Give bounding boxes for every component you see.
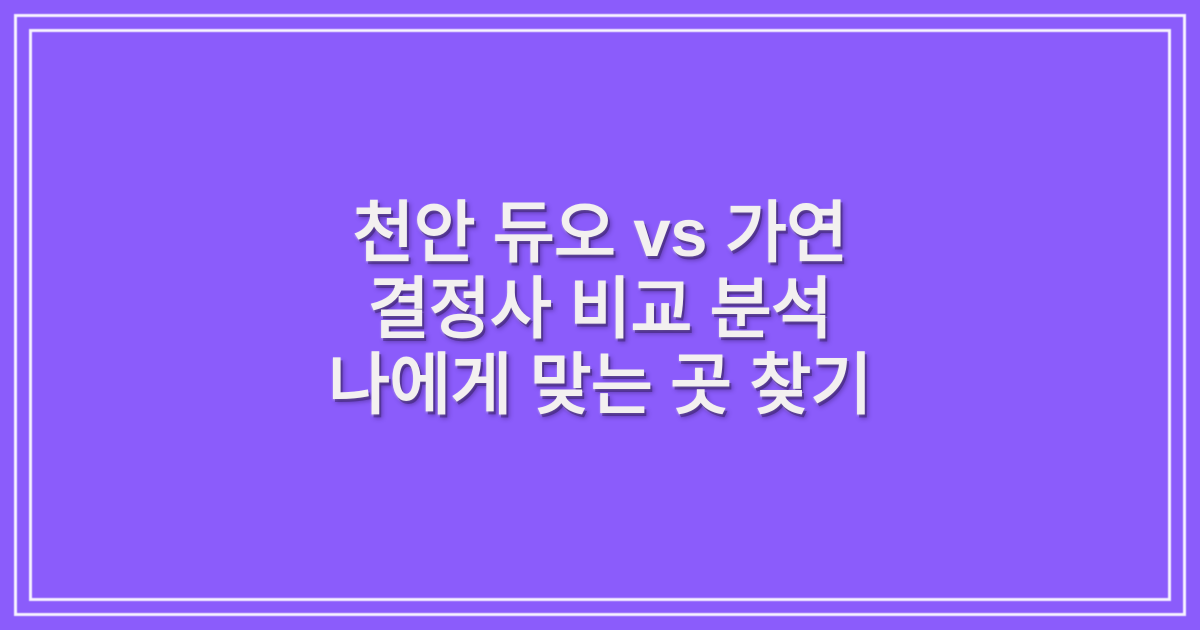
thumbnail-canvas: 천안 듀오 vs 가연 결정사 비교 분석 나에게 맞는 곳 찾기 (0, 0, 1200, 630)
page-title-line-2: 결정사 비교 분석 (60, 272, 1140, 348)
page-title-line-3: 나에게 맞는 곳 찾기 (60, 348, 1140, 424)
page-title: 천안 듀오 vs 가연 결정사 비교 분석 나에게 맞는 곳 찾기 (0, 196, 1200, 424)
page-title-line-1: 천안 듀오 vs 가연 (60, 196, 1140, 272)
